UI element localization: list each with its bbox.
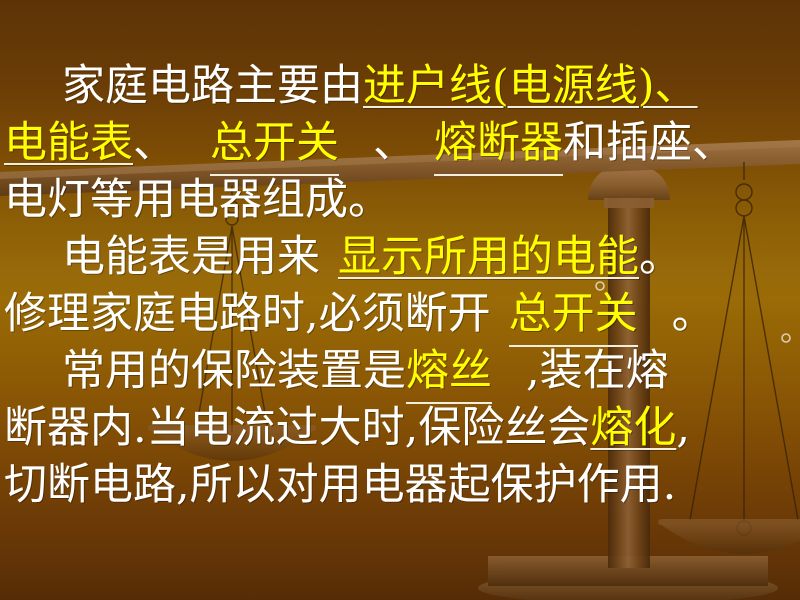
line7-static-a: 断器内.当电流过大时,保险丝会 — [4, 403, 590, 453]
text-line-5: 修理家庭电路时,必须断开总开关。 — [0, 286, 800, 343]
text-line-7: 断器内.当电流过大时,保险丝会熔化, — [0, 400, 800, 457]
line5-static-a: 修理家庭电路时,必须断开 — [4, 289, 491, 339]
line4-static-a: 电能表是用来 — [62, 232, 320, 282]
line5-blank-main-switch: 总开关 — [509, 286, 638, 347]
line2-punct-a: 、 — [133, 118, 176, 168]
line4-punct: 。 — [639, 232, 682, 282]
text-line-1: 家庭电路主要由进户线(电源线)、 — [0, 58, 800, 115]
line8-static: 切断电路,所以对用电器起保护作用. — [4, 460, 676, 510]
line2-blank-main-switch: 总开关 — [210, 115, 339, 176]
line2-blank-fuse-box: 熔断器 — [434, 115, 563, 176]
line2-blank-meter: 电能表 — [4, 118, 133, 168]
line6-static-tail: ,装在熔 — [526, 346, 669, 396]
line3-static: 电灯等用电器组成。 — [4, 175, 391, 225]
scale-right-pan-dish — [658, 519, 800, 554]
line1-static-a: 家庭电路主要由 — [62, 61, 363, 111]
text-line-3: 电灯等用电器组成。 — [0, 172, 800, 229]
text-line-6: 常用的保险装置是熔丝,装在熔 — [0, 343, 800, 400]
line1-blank-entry-line: 进户线(电源线)、 — [363, 61, 698, 111]
line7-punct: , — [676, 403, 690, 453]
slide-text-body: 家庭电路主要由进户线(电源线)、 电能表、总开关、熔断器和插座、 电灯等用电器组… — [0, 58, 800, 514]
line6-blank-fuse-wire: 熔丝 — [406, 343, 492, 404]
line5-punct: 。 — [672, 289, 715, 339]
line7-blank-melt: 熔化 — [590, 403, 676, 453]
line2-static-tail: 和插座、 — [563, 118, 735, 168]
line6-static-a: 常用的保险装置是 — [62, 346, 406, 396]
scale-base — [478, 556, 778, 600]
text-line-4: 电能表是用来显示所用的电能。 — [0, 229, 800, 286]
text-line-2: 电能表、总开关、熔断器和插座、 — [0, 115, 800, 172]
line4-blank-display-energy: 显示所用的电能 — [338, 232, 639, 282]
text-line-8: 切断电路,所以对用电器起保护作用. — [0, 457, 800, 514]
presentation-slide: 家庭电路主要由进户线(电源线)、 电能表、总开关、熔断器和插座、 电灯等用电器组… — [0, 0, 800, 600]
line2-punct-b: 、 — [373, 118, 416, 168]
